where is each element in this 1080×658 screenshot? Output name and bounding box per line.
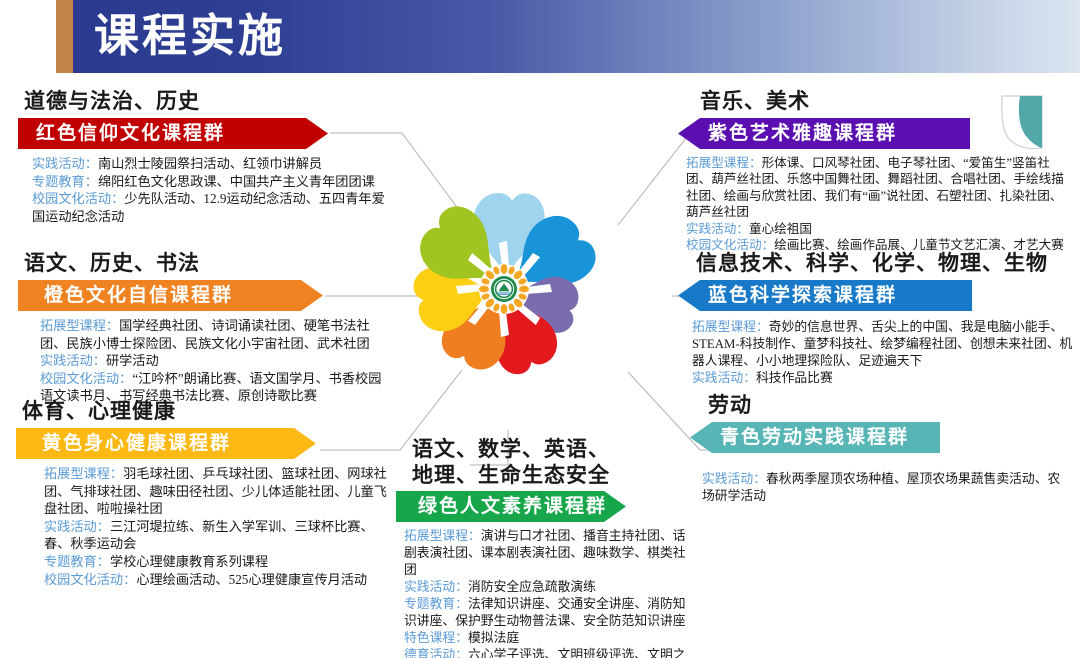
section-body-orange: 拓展型课程：国学经典社团、诗词诵读社团、硬笔书法社团、民族小博士探险团、民族文化… <box>40 317 390 405</box>
body-line-text: 学校心理健康教育系列课程 <box>110 554 268 569</box>
body-line-label: 校园文化活动： <box>32 191 124 206</box>
body-line: 实践活动：南山烈士陵园祭扫活动、红领巾讲解员 <box>32 155 390 173</box>
section-purple-art-elegance: 音乐、美术 紫色艺术雅趣课程群 拓展型课程：形体课、口风琴社团、电子琴社团、“爱… <box>678 88 1074 253</box>
section-heading-blue: 信息技术、科学、化学、物理、生物 <box>696 250 1074 276</box>
page-title: 课程实施 <box>94 4 286 68</box>
body-line-label: 实践活动： <box>44 519 110 534</box>
body-line-text: 研学活动 <box>106 353 159 368</box>
body-line-text: 南山烈士陵园祭扫活动、红领巾讲解员 <box>98 156 322 171</box>
body-line: 拓展型课程：国学经典社团、诗词诵读社团、硬笔书法社团、民族小博士探险团、民族文化… <box>40 317 390 352</box>
body-line-text: 心理绘画活动、525心理健康宣传月活动 <box>136 572 367 587</box>
section-body-purple: 拓展型课程：形体课、口风琴社团、电子琴社团、“爱笛生”竖笛社团、葫芦丝社团、乐悠… <box>686 155 1074 253</box>
body-line-label: 实践活动： <box>40 353 106 368</box>
banner-blue[interactable]: 蓝色科学探索课程群 <box>678 280 972 311</box>
body-line: 实践活动：研学活动 <box>40 352 390 370</box>
body-line-label: 专题教育： <box>32 174 98 189</box>
banner-label-green: 绿色人文素养课程群 <box>418 491 607 522</box>
banner-label-red: 红色信仰文化课程群 <box>36 118 225 149</box>
body-line-label: 校园文化活动： <box>40 371 132 386</box>
body-line: 实践活动：科技作品比赛 <box>692 370 1074 387</box>
body-line-text: 科技作品比赛 <box>756 371 833 385</box>
banner-purple[interactable]: 紫色艺术雅趣课程群 <box>678 118 970 149</box>
body-line: 专题教育：法律知识讲座、交通安全讲座、消防知识讲座、保护野生动物普法课、安全防范… <box>404 596 696 630</box>
school-emblem-icon <box>491 276 517 302</box>
slide-canvas: 课程实施 <box>0 0 1080 658</box>
body-line-label: 专题教育： <box>44 554 110 569</box>
body-line-label: 实践活动： <box>32 156 98 171</box>
body-line-label: 实践活动： <box>686 222 749 236</box>
body-line: 实践活动：三江河堤拉练、新生入学军训、三球杯比赛、春、秋季运动会 <box>44 518 388 553</box>
body-line-text: 童心绘祖国 <box>749 222 812 236</box>
banner-teal[interactable]: 青色劳动实践课程群 <box>690 422 940 453</box>
body-line-label: 德育活动： <box>404 648 468 658</box>
body-line: 实践活动：春秋两季屋顶农场种植、屋顶农场果蔬售卖活动、农场研学活动 <box>702 471 1070 505</box>
banner-yellow[interactable]: 黄色身心健康课程群 <box>16 428 316 459</box>
section-body-teal: 实践活动：春秋两季屋顶农场种植、屋顶农场果蔬售卖活动、农场研学活动 <box>702 471 1070 505</box>
body-line: 专题教育：绵阳红色文化思政课、中国共产主义青年团团课 <box>32 173 390 191</box>
body-line-label: 实践活动： <box>404 580 468 594</box>
body-line: 专题教育：学校心理健康教育系列课程 <box>44 553 388 571</box>
banner-red[interactable]: 红色信仰文化课程群 <box>18 118 328 149</box>
section-heading-yellow: 体育、心理健康 <box>22 398 388 424</box>
banner-label-yellow: 黄色身心健康课程群 <box>42 428 231 459</box>
section-heading-orange: 语文、历史、书法 <box>24 250 390 276</box>
section-body-yellow: 拓展型课程：羽毛球社团、乒乓球社团、篮球社团、网球社团、气排球社团、趣味田径社团… <box>44 465 388 588</box>
body-line: 拓展型课程：羽毛球社团、乒乓球社团、篮球社团、网球社团、气排球社团、趣味田径社团… <box>44 465 388 518</box>
banner-label-orange: 橙色文化自信课程群 <box>44 280 233 311</box>
section-green-humanities-literacy: 语文、数学、英语、 地理、生命生态安全 绿色人文素养课程群 拓展型课程：演讲与口… <box>396 436 696 658</box>
body-line: 德育活动：六心学子评选、文明班级评选、文明之花评选 <box>404 647 696 658</box>
body-line: 拓展型课程：奇妙的信息世界、舌尖上的中国、我是电脑小能手、STEAM-科技制作、… <box>692 319 1074 370</box>
section-blue-science-exploration: 信息技术、科学、化学、物理、生物 蓝色科学探索课程群 拓展型课程：奇妙的信息世界… <box>678 250 1074 387</box>
banner-label-teal: 青色劳动实践课程群 <box>720 422 909 453</box>
body-line: 拓展型课程：形体课、口风琴社团、电子琴社团、“爱笛生”竖笛社团、葫芦丝社团、乐悠… <box>686 155 1074 221</box>
banner-orange[interactable]: 橙色文化自信课程群 <box>18 280 323 311</box>
body-line-label: 实践活动： <box>702 472 766 486</box>
banner-label-purple: 紫色艺术雅趣课程群 <box>708 118 897 149</box>
slide-header: 课程实施 <box>56 0 1080 73</box>
section-teal-labor-practice: 劳动 青色劳动实践课程群 实践活动：春秋两季屋顶农场种植、屋顶农场果蔬售卖活动、… <box>690 392 1070 505</box>
body-line-label: 拓展型课程： <box>686 156 762 170</box>
body-line: 实践活动：消防安全应急疏散演练 <box>404 579 696 596</box>
body-line: 拓展型课程：演讲与口才社团、播音主持社团、话剧表演社团、课本剧表演社团、趣味数学… <box>404 528 696 579</box>
body-line: 校园文化活动：心理绘画活动、525心理健康宣传月活动 <box>44 571 388 589</box>
body-line-label: 拓展型课程： <box>40 318 119 333</box>
body-line: 特色课程：模拟法庭 <box>404 630 696 647</box>
header-accent-bar <box>56 0 73 73</box>
section-red-belief-culture: 道德与法治、历史 红色信仰文化课程群 实践活动：南山烈士陵园祭扫活动、红领巾讲解… <box>18 88 390 225</box>
body-line-label: 校园文化活动： <box>44 572 136 587</box>
body-line-label: 特色课程： <box>404 631 468 645</box>
body-line-label: 拓展型课程： <box>44 466 123 481</box>
section-orange-cultural-confidence: 语文、历史、书法 橙色文化自信课程群 拓展型课程：国学经典社团、诗词诵读社团、硬… <box>18 250 390 405</box>
section-body-blue: 拓展型课程：奇妙的信息世界、舌尖上的中国、我是电脑小能手、STEAM-科技制作、… <box>692 319 1074 387</box>
body-line-label: 专题教育： <box>404 597 468 611</box>
section-yellow-physical-mental-health: 体育、心理健康 黄色身心健康课程群 拓展型课程：羽毛球社团、乒乓球社团、篮球社团… <box>16 398 388 588</box>
body-line: 实践活动：童心绘祖国 <box>686 221 1074 237</box>
section-body-green: 拓展型课程：演讲与口才社团、播音主持社团、话剧表演社团、课本剧表演社团、趣味数学… <box>404 528 696 658</box>
body-line-label: 实践活动： <box>692 371 756 385</box>
body-line-label: 拓展型课程： <box>692 320 769 334</box>
section-heading-purple: 音乐、美术 <box>700 88 1074 114</box>
section-heading-red: 道德与法治、历史 <box>24 88 390 114</box>
body-line: 校园文化活动：少先队活动、12.9运动纪念活动、五四青年爱国运动纪念活动 <box>32 190 390 225</box>
seven-petal-flower-graphic <box>398 183 610 395</box>
body-line-text: 消防安全应急疏散演练 <box>468 580 596 594</box>
section-heading-teal: 劳动 <box>708 392 1070 418</box>
banner-label-blue: 蓝色科学探索课程群 <box>708 280 897 311</box>
section-heading-green-line2: 地理、生命生态安全 <box>412 462 696 488</box>
body-line-label: 拓展型课程： <box>404 529 481 543</box>
banner-green[interactable]: 绿色人文素养课程群 <box>396 491 626 522</box>
body-line-text: 模拟法庭 <box>468 631 519 645</box>
body-line-text: 绵阳红色文化思政课、中国共产主义青年团团课 <box>98 174 375 189</box>
section-heading-green-line1: 语文、数学、英语、 <box>412 436 696 462</box>
section-body-red: 实践活动：南山烈士陵园祭扫活动、红领巾讲解员 专题教育：绵阳红色文化思政课、中国… <box>32 155 390 225</box>
